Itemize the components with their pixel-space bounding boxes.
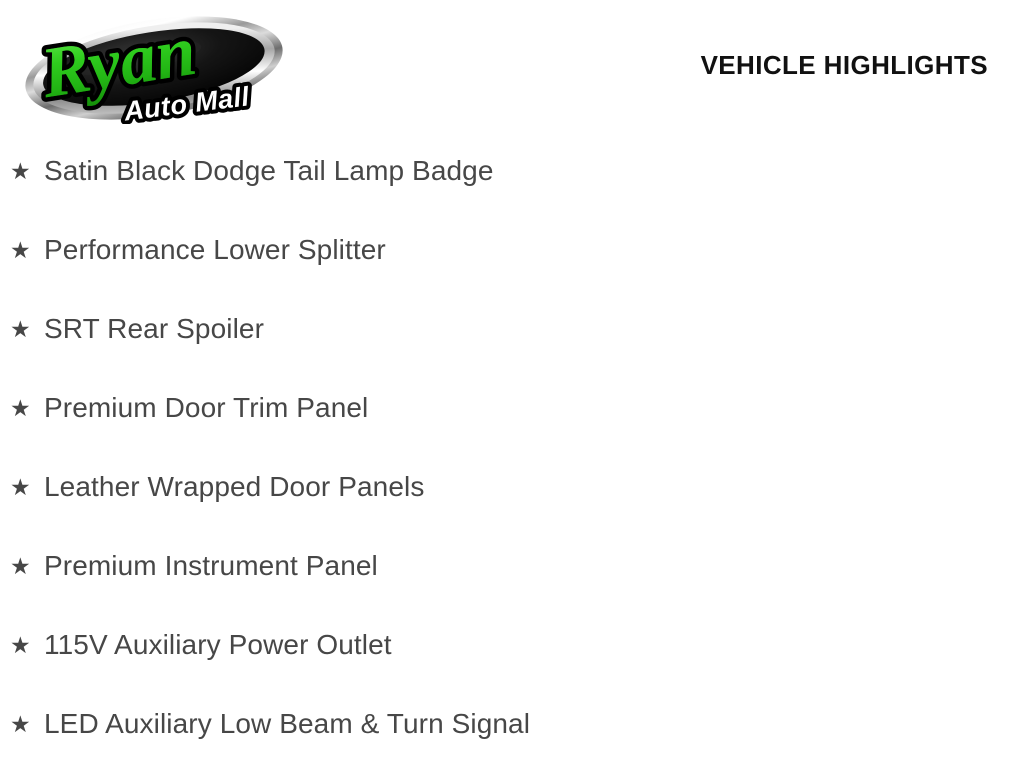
page-title: VEHICLE HIGHLIGHTS <box>701 50 988 81</box>
highlight-item-label: Premium Instrument Panel <box>44 551 378 582</box>
star-bullet-icon: ★ <box>10 397 34 420</box>
highlight-item-label: Satin Black Dodge Tail Lamp Badge <box>44 156 494 187</box>
highlight-item-label: Premium Door Trim Panel <box>44 393 368 424</box>
logo-artwork: Ryan Ryan Ryan Auto Mall Auto Mall <box>16 6 292 124</box>
highlight-item-label: Leather Wrapped Door Panels <box>44 472 424 503</box>
star-bullet-icon: ★ <box>10 713 34 736</box>
vehicle-highlights-page: Ryan Ryan Ryan Auto Mall Auto Mall VEHIC… <box>0 0 1024 768</box>
vehicle-highlights-list: ★Satin Black Dodge Tail Lamp Badge★Perfo… <box>0 132 1024 764</box>
star-bullet-icon: ★ <box>10 555 34 578</box>
highlight-item: ★Premium Door Trim Panel <box>0 369 1024 448</box>
page-header: Ryan Ryan Ryan Auto Mall Auto Mall VEHIC… <box>0 0 1024 132</box>
star-bullet-icon: ★ <box>10 160 34 183</box>
highlight-item-label: 115V Auxiliary Power Outlet <box>44 630 392 661</box>
highlight-item: ★SRT Rear Spoiler <box>0 290 1024 369</box>
star-bullet-icon: ★ <box>10 634 34 657</box>
highlight-item: ★Leather Wrapped Door Panels <box>0 448 1024 527</box>
highlight-item: ★Performance Lower Splitter <box>0 211 1024 290</box>
highlight-item: ★LED Auxiliary Low Beam & Turn Signal <box>0 685 1024 764</box>
logo-svg: Ryan Ryan Ryan Auto Mall Auto Mall <box>16 6 292 124</box>
star-bullet-icon: ★ <box>10 239 34 262</box>
highlight-item: ★115V Auxiliary Power Outlet <box>0 606 1024 685</box>
highlight-item: ★Satin Black Dodge Tail Lamp Badge <box>0 132 1024 211</box>
highlight-item-label: LED Auxiliary Low Beam & Turn Signal <box>44 709 530 740</box>
star-bullet-icon: ★ <box>10 476 34 499</box>
highlight-item-label: SRT Rear Spoiler <box>44 314 264 345</box>
highlight-item-label: Performance Lower Splitter <box>44 235 386 266</box>
highlight-item: ★Premium Instrument Panel <box>0 527 1024 606</box>
star-bullet-icon: ★ <box>10 318 34 341</box>
ryan-auto-mall-logo: Ryan Ryan Ryan Auto Mall Auto Mall <box>16 6 292 124</box>
